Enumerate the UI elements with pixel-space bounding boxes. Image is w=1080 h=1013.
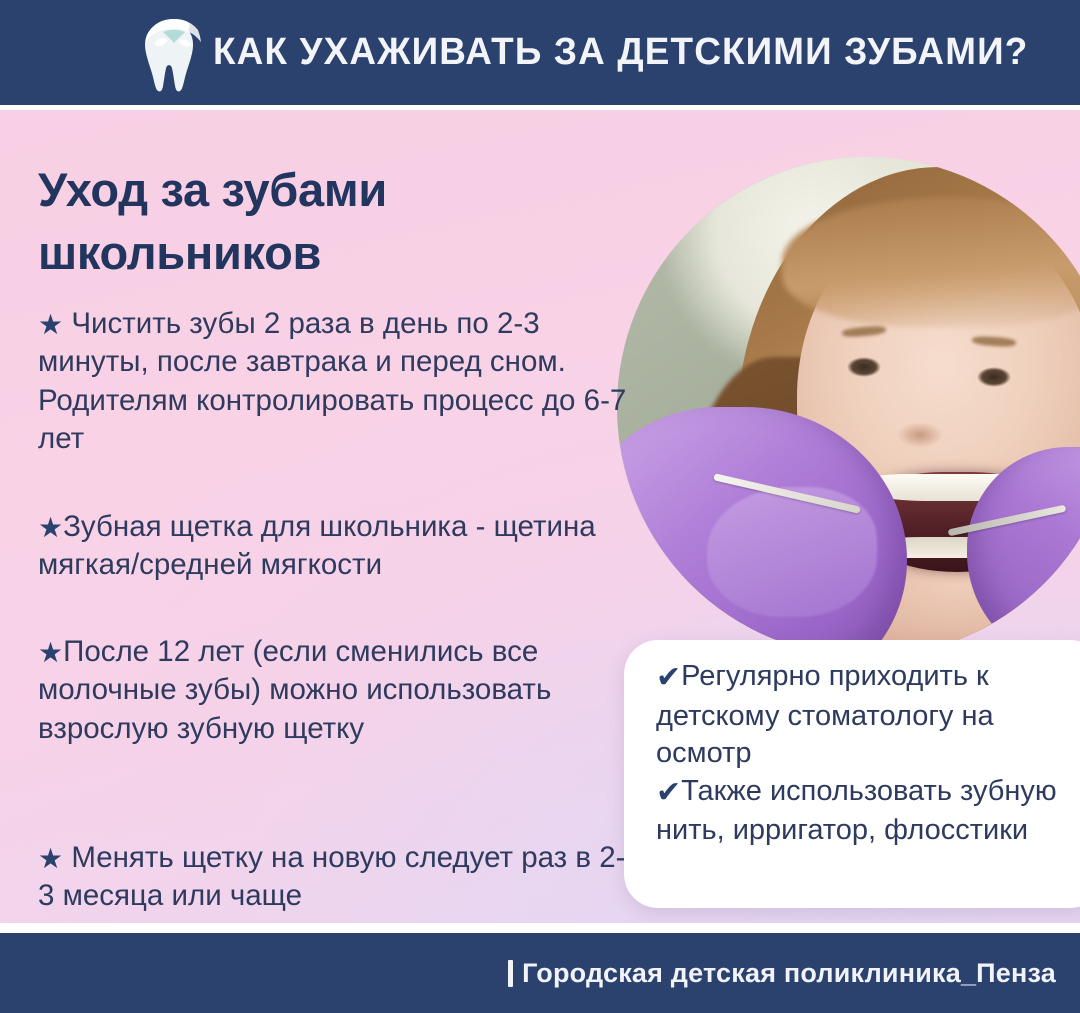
list-item-text: Также использовать зубную нить, ирригато…: [656, 775, 1057, 847]
star-icon: ★: [38, 510, 63, 547]
list-item: ★После 12 лет (если сменились все молочн…: [38, 633, 638, 749]
list-item-text: Регулярно приходить к детскому стоматоло…: [656, 660, 994, 769]
dentist-photo: [617, 157, 1080, 657]
list-item: ✔Регулярно приходить к детскому стоматол…: [656, 658, 1080, 773]
footer-text: Городская детская поликлиника_Пенза: [522, 958, 1056, 989]
page-title: Уход за зубами школьников: [38, 159, 598, 283]
list-item-text: Зубная щетка для школьника - щетина мягк…: [38, 510, 596, 582]
infographic-poster: КАК УХАЖИВАТЬ ЗА ДЕТСКИМИ ЗУБАМИ?: [0, 0, 1080, 1013]
tooth-icon: [141, 16, 207, 94]
footer-brand: Городская детская поликлиника_Пенза: [508, 933, 1056, 1013]
header-title: КАК УХАЖИВАТЬ ЗА ДЕТСКИМИ ЗУБАМИ?: [213, 0, 1028, 105]
list-item-text: После 12 лет (если сменились все молочны…: [38, 635, 551, 745]
list-item: ★ Чистить зубы 2 раза в день по 2-3 мину…: [38, 305, 638, 460]
recommendations-card: ✔Регулярно приходить к детскому стоматол…: [624, 640, 1080, 908]
list-item: ★Зубная щетка для школьника - щетина мяг…: [38, 508, 638, 585]
star-icon: ★: [38, 841, 63, 878]
footer-bar: Городская детская поликлиника_Пенза: [0, 933, 1080, 1013]
star-icon: ★: [38, 307, 63, 344]
check-icon: ✔: [656, 659, 681, 698]
list-item: ★ Менять щетку на новую следует раз в 2-…: [38, 839, 638, 916]
list-item-text: Чистить зубы 2 раза в день по 2-3 минуты…: [38, 307, 626, 456]
content-panel: Уход за зубами школьников ★ Чистить зубы…: [0, 110, 1080, 923]
recommendations-list: ✔Регулярно приходить к детскому стоматол…: [656, 658, 1080, 850]
star-icon: ★: [38, 635, 63, 672]
list-item-text: Менять щетку на новую следует раз в 2-3 …: [38, 841, 626, 913]
list-item: ✔Также использовать зубную нить, ирригат…: [656, 773, 1080, 850]
header-bar: КАК УХАЖИВАТЬ ЗА ДЕТСКИМИ ЗУБАМИ?: [0, 0, 1080, 105]
check-icon: ✔: [656, 774, 681, 813]
divider: [0, 923, 1080, 933]
vertical-bar-icon: [508, 960, 513, 987]
